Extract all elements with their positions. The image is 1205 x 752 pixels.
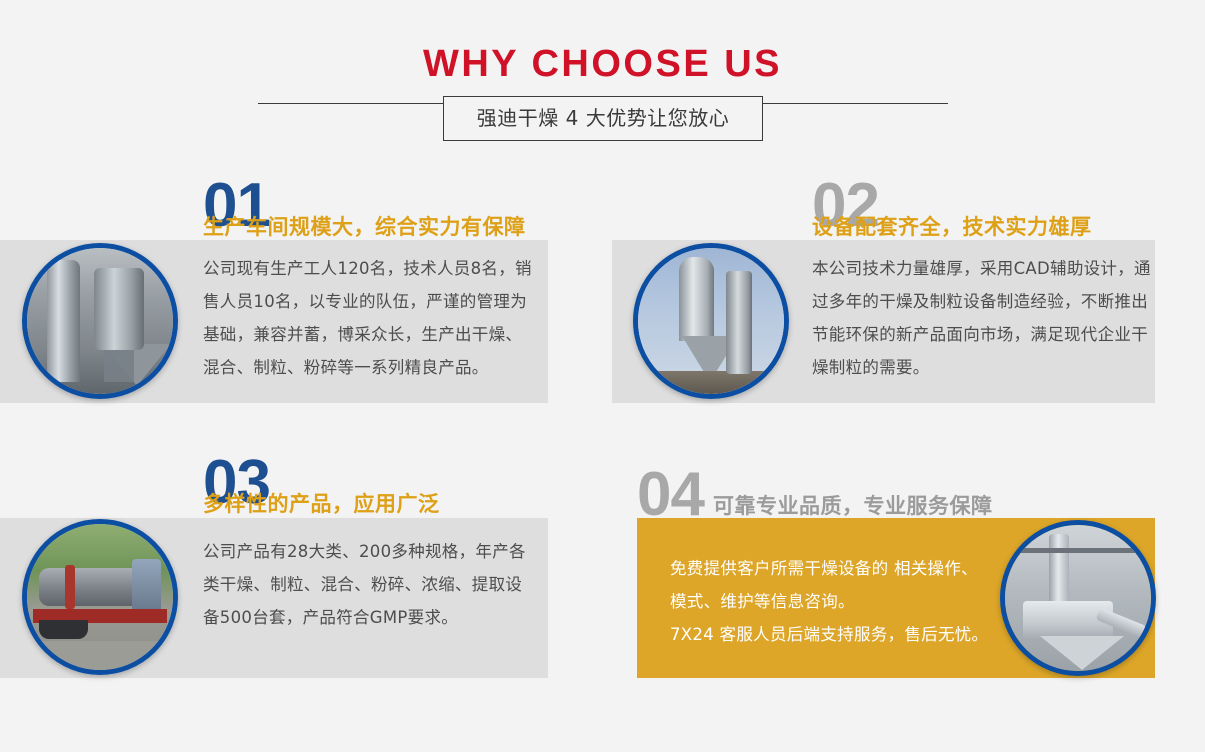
card-04-body: 免费提供客户所需干燥设备的 相关操作、 模式、维护等信息咨询。 7X24 客服人… — [670, 552, 990, 651]
page-header: WHY CHOOSE US 强迪干燥 4 大优势让您放心 — [0, 0, 1205, 160]
card-04-body-line-1: 免费提供客户所需干燥设备的 相关操作、 — [670, 552, 990, 585]
road-strip — [27, 641, 173, 670]
page-title: WHY CHOOSE US — [0, 42, 1205, 86]
ground-strip — [638, 371, 784, 394]
card-03-photo — [22, 519, 178, 675]
card-02-heading: 设备配套齐全，技术实力雄厚 — [812, 215, 1092, 239]
spray-dryer-outdoor-image — [638, 248, 784, 394]
card-01-body: 公司现有生产工人120名，技术人员8名，销售人员10名，以专业的队伍，严谨的管理… — [203, 252, 533, 384]
card-03-heading: 多样性的产品，应用广泛 — [203, 492, 440, 516]
roof-beam-shape — [1005, 548, 1151, 552]
card-03-body: 公司产品有28大类、200多种规格，年产各类干燥、制粒、混合、粉碎、浓缩、提取设… — [203, 535, 533, 634]
card-01-photo — [22, 243, 178, 399]
card-04-number: 04 — [637, 464, 704, 526]
drum-ring-shape — [65, 565, 75, 609]
drum-shape — [39, 568, 147, 606]
rotary-dryer-shipping-image — [27, 524, 173, 670]
card-02-body: 本公司技术力量雄厚，采用CAD辅助设计，通过多年的干燥及制粒设备制造经验，不断推… — [812, 252, 1152, 384]
header-subtitle: 强迪干燥 4 大优势让您放心 — [443, 96, 763, 141]
cone-shape — [103, 344, 171, 386]
wheels-shape — [39, 620, 89, 639]
drum-head-shape — [132, 559, 161, 612]
card-04-body-line-3: 7X24 客服人员后端支持服务，售后无忧。 — [670, 618, 990, 651]
card-01-heading: 生产车间规模大，综合实力有保障 — [203, 215, 526, 239]
hopper-shape — [1040, 636, 1124, 670]
card-04-photo — [1000, 520, 1156, 676]
card-04-heading: 可靠专业品质，专业服务保障 — [713, 494, 993, 518]
card-04-body-line-2: 模式、维护等信息咨询。 — [670, 585, 990, 618]
spray-dryer-workshop-image — [27, 248, 173, 394]
fluid-bed-dryer-plant-image — [1005, 525, 1151, 671]
card-02-photo — [633, 243, 789, 399]
